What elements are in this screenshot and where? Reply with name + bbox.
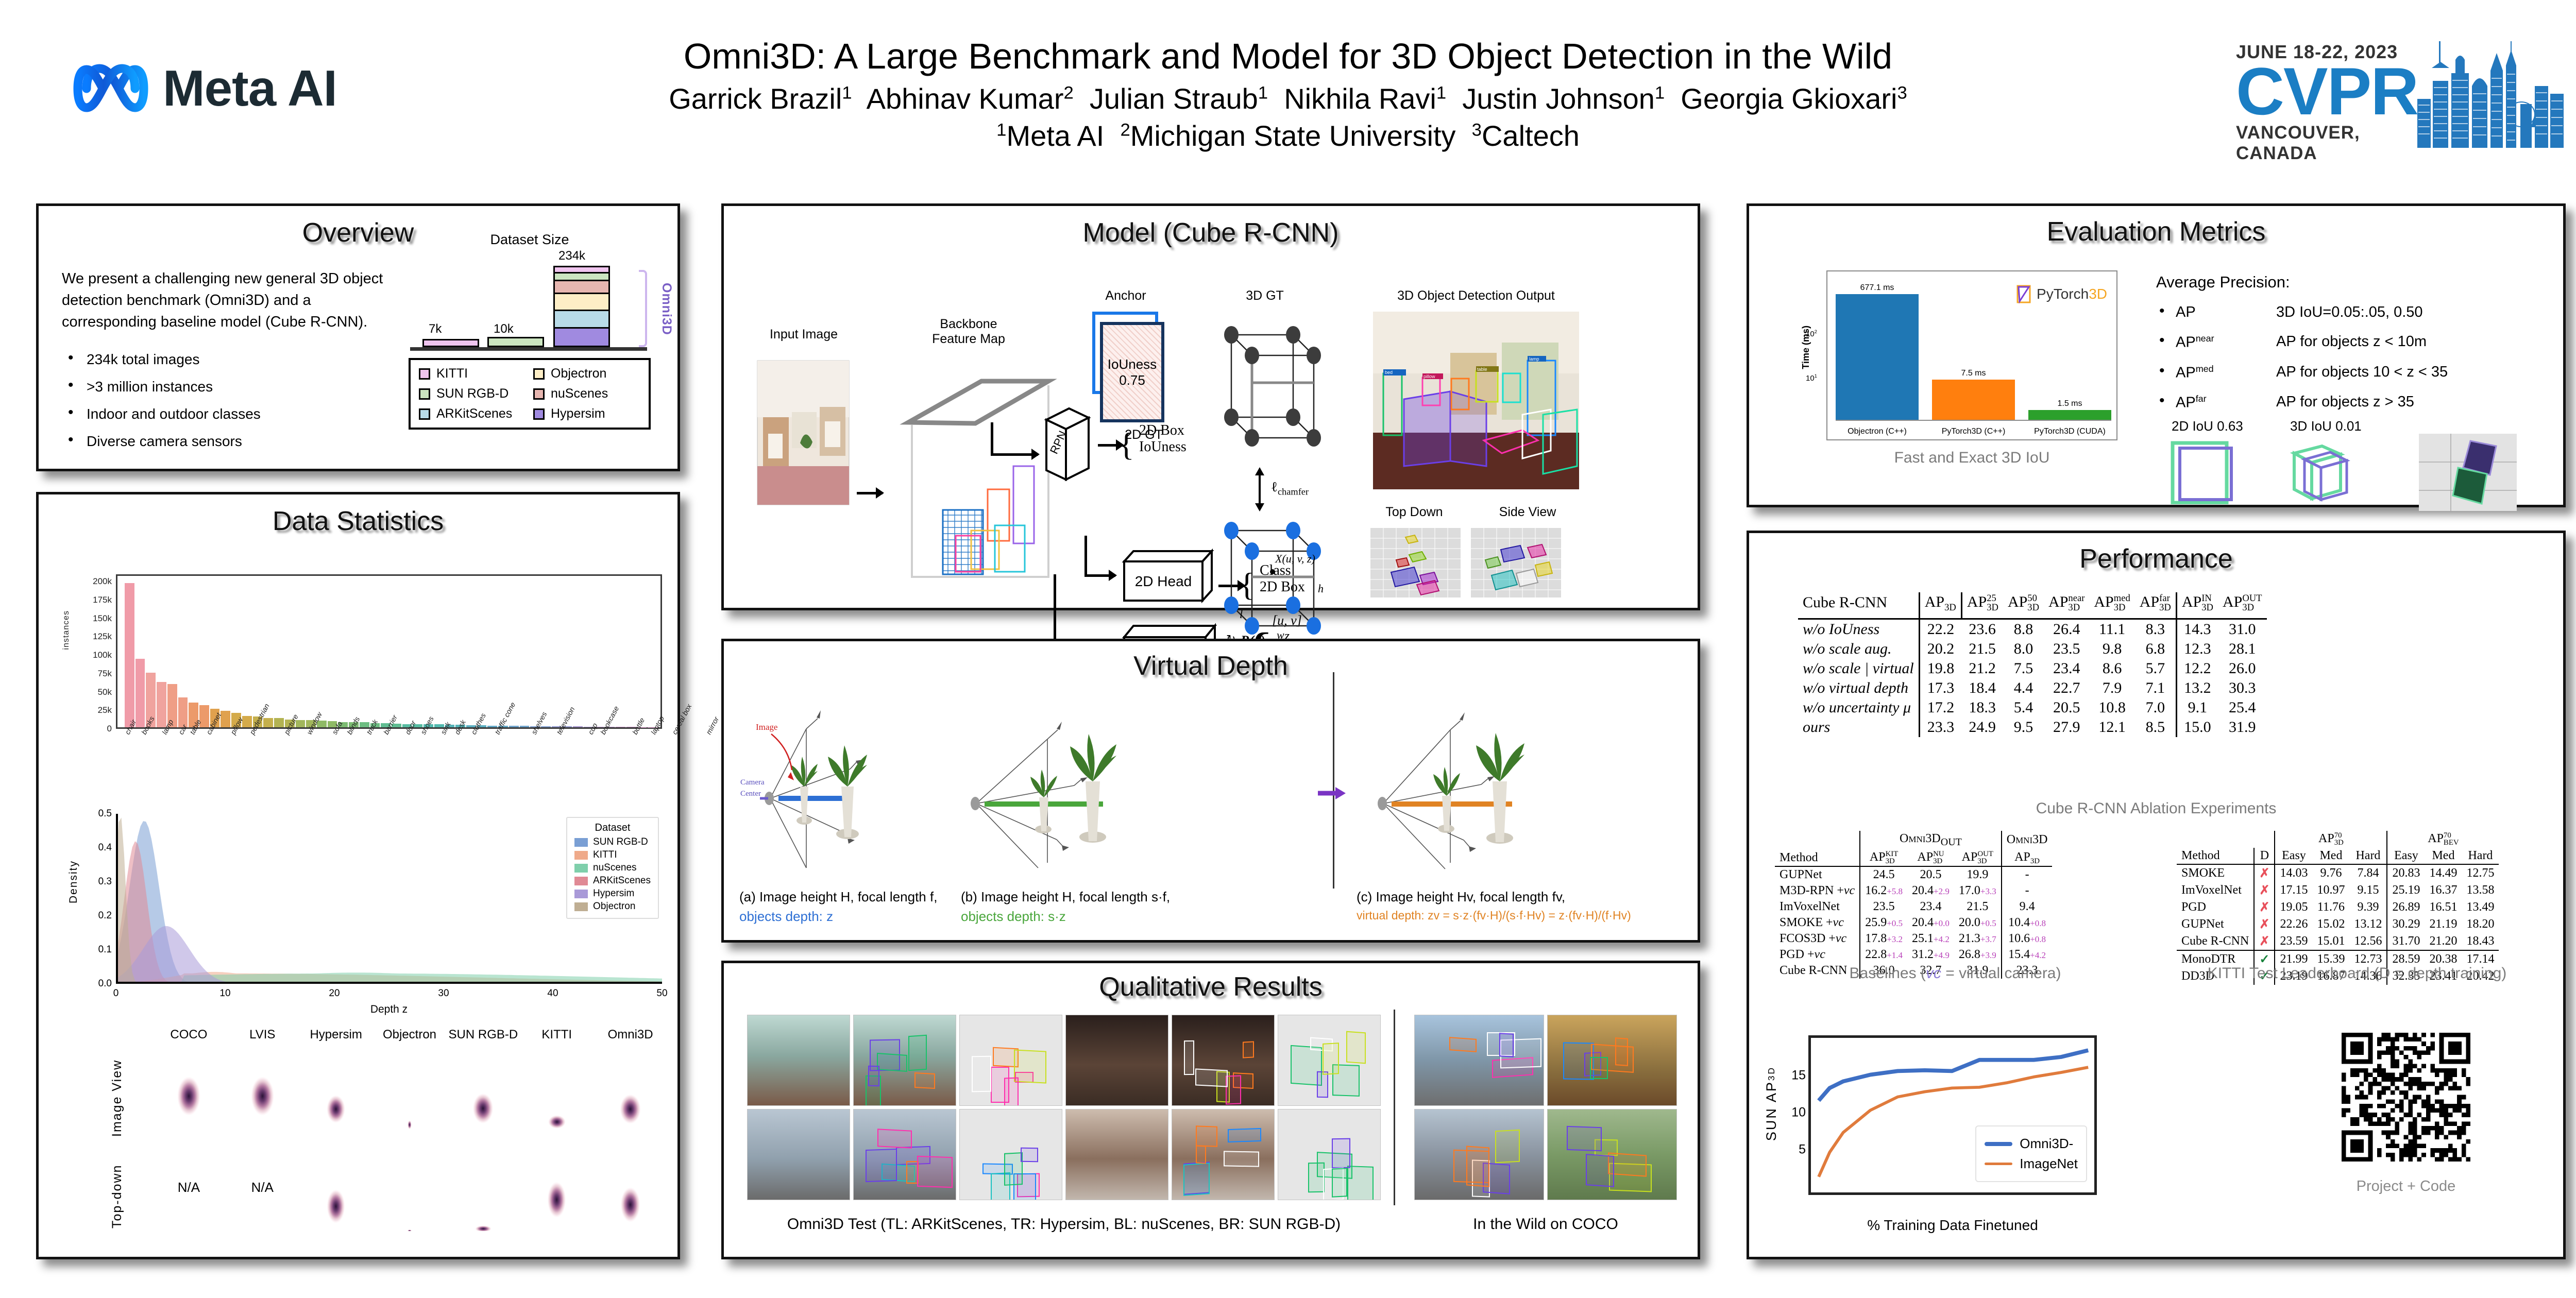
column-header: Easy xyxy=(2387,848,2425,864)
column-header: AP 3D xyxy=(2002,849,2053,867)
average-precision-list: AP3D IoU=0.05:.05, 0.50APnearAP for obje… xyxy=(2156,304,2548,412)
table-cell: 9.1 xyxy=(2176,698,2218,718)
x-tick-label: PyTorch3D (CUDA) xyxy=(2028,427,2111,436)
table-cell: 8.0 xyxy=(2003,639,2044,659)
ap-definition-row: APfarAP for objects z > 35 xyxy=(2156,394,2548,412)
label-3d-gt: 3D GT xyxy=(1218,288,1311,303)
dataset-legend: KITTI Objectron SUN RGB-D nuScenes ARKit… xyxy=(409,358,651,430)
group-header-omni3d: Omni3D xyxy=(2002,831,2053,849)
svg-text:table: table xyxy=(1477,367,1487,372)
bar xyxy=(178,697,188,727)
label-top-down: Top Down xyxy=(1363,505,1466,520)
label-backbone-feature-map: Backbone Feature Map xyxy=(909,317,1028,347)
input-image-thumbnail xyxy=(756,355,851,510)
y-tick: 10 xyxy=(1791,1105,1806,1120)
column-header: LVIS xyxy=(226,1028,299,1042)
spatial-distribution-grid: COCO LVIS Hypersim Objectron SUN RGB-D K… xyxy=(106,1028,667,1234)
performance-title: Performance xyxy=(1749,543,2563,574)
column-header: Hard xyxy=(2462,848,2499,864)
column-header: APfar3D xyxy=(2135,592,2177,619)
table-cell: 10.6+0.8 xyxy=(2002,931,2053,947)
caption-b: (b) Image height H, focal length s·f, ob… xyxy=(961,887,1177,926)
qualitative-image xyxy=(1065,1015,1168,1106)
overview-bullets: 234k total images >3 million instances I… xyxy=(62,352,402,449)
y-tick: 175k xyxy=(93,595,112,605)
table-cell: 8.8 xyxy=(2003,619,2044,639)
column-header: APOUT3D xyxy=(1954,849,2002,867)
table-header-row: MethodDEasyMedHardEasyMedHard xyxy=(2177,848,2499,864)
poster-header: Meta AI Omni3D: A Large Benchmark and Mo… xyxy=(0,0,2576,191)
caption-c: (c) Image height Hv, focal length fv, vi… xyxy=(1357,887,1676,924)
legend-label: ARKitScenes xyxy=(436,406,512,421)
row-label: w/o uncertainty μ xyxy=(1798,698,1919,718)
table-row: GUPNet24.520.519.9- xyxy=(1775,866,2052,883)
timing-bar-wrap: 677.1 ms xyxy=(1836,279,1919,420)
column-header: AP503D xyxy=(2003,592,2044,619)
heatmap-cell xyxy=(446,1143,520,1231)
heatmap-blob xyxy=(404,1109,416,1140)
table-cell: 8.3 xyxy=(2135,619,2177,639)
y-tick: 0.0 xyxy=(98,978,112,989)
y-tick: 5 xyxy=(1799,1142,1806,1157)
bar xyxy=(274,718,284,727)
axis-label-depth-z: Depth z xyxy=(370,1003,408,1016)
table-cell: 9.5 xyxy=(2003,718,2044,737)
table-cell: 28.1 xyxy=(2218,639,2267,659)
x-tick: 20 xyxy=(329,988,340,999)
timing-bar xyxy=(1836,294,1919,420)
depth-flag: ✗ xyxy=(2254,882,2275,899)
dataset-size-title: Dataset Size xyxy=(393,232,666,248)
table-cell: 17.0+3.3 xyxy=(1954,883,2002,899)
list-item: 234k total images xyxy=(62,352,402,367)
heatmap-blob xyxy=(240,1049,285,1139)
legend-item-nuscenes: nuScenes xyxy=(533,386,640,401)
legend-swatch xyxy=(574,877,588,885)
density-legend: Dataset SUN RGB-DKITTInuScenesARKitScene… xyxy=(566,817,659,919)
legend-swatch-imagenet xyxy=(1985,1163,2012,1165)
legend-item: SUN RGB-D xyxy=(574,836,651,848)
list-item: >3 million instances xyxy=(62,380,402,394)
baselines-caption-a: Baselines ( xyxy=(1850,965,1926,982)
table-cell: 10.8 xyxy=(2089,698,2134,718)
qr-caption: Project + Code xyxy=(2326,1178,2486,1195)
table-cell: 12.56 xyxy=(2349,933,2387,950)
caption-b-bottom: objects depth: s·z xyxy=(961,907,1177,927)
legend-item: ARKitScenes xyxy=(574,875,651,886)
qualitative-image xyxy=(747,1015,850,1106)
legend-label: KITTI xyxy=(436,366,468,381)
axis-label-density: Density xyxy=(67,860,80,903)
table-cell: 26.0 xyxy=(2218,659,2267,678)
baselines-caption: Baselines (vc = virtual camera) xyxy=(1765,965,2146,982)
table-cell: 20.4+2.9 xyxy=(1907,883,1954,899)
dataset-size-plot: 7k 10k 234k Omni3D xyxy=(406,253,653,351)
column-header: Easy xyxy=(2275,848,2312,864)
table-cell: 12.75 xyxy=(2462,864,2499,882)
column-header: AP 3D xyxy=(1919,592,1961,619)
x-tick-label: Objectron (C++) xyxy=(1836,427,1919,436)
evaluation-metrics-panel: Evaluation Metrics Time (ms) 101 102 677… xyxy=(1747,203,2566,507)
timing-bar-wrap: 7.5 ms xyxy=(1932,279,2015,420)
heatmap-cell xyxy=(299,1143,373,1231)
table-cell: 7.84 xyxy=(2349,864,2387,882)
table-cell: 16.51 xyxy=(2425,899,2462,916)
connector-vertical-rpn xyxy=(991,422,993,456)
qualitative-grid-coco xyxy=(1414,1015,1677,1200)
segment-kitti xyxy=(555,267,608,274)
evaluation-title: Evaluation Metrics xyxy=(1749,216,2563,247)
row-label-top-down: Top-down xyxy=(110,1143,125,1228)
table-cell: 13.58 xyxy=(2462,882,2499,899)
legend-item-imagenet: ImageNet xyxy=(1985,1156,2078,1172)
ap-description: AP for objects z < 10m xyxy=(2276,333,2427,351)
table-cell: 12.1 xyxy=(2089,718,2134,737)
density-x-axis xyxy=(116,982,662,984)
table-cell: 12.3 xyxy=(2176,639,2218,659)
legend-item-kitti: KITTI xyxy=(419,366,526,381)
legend-swatch-nuscenes xyxy=(533,388,545,400)
side-view-render xyxy=(1471,528,1561,597)
row-label: GUPNet xyxy=(1775,866,1860,883)
caption-a-bottom: objects depth: z xyxy=(739,907,956,927)
legend-swatch xyxy=(574,902,588,911)
table-corner: Method xyxy=(1775,849,1860,867)
legend-item-hypersim: Hypersim xyxy=(533,406,640,421)
table-cell: 22.2 xyxy=(1919,619,1961,639)
table-cell: 8.6 xyxy=(2089,659,2134,678)
table-row: SMOKE✗14.039.767.8420.8314.4912.75 xyxy=(2177,864,2499,882)
legend-swatch-hypersim xyxy=(533,408,545,420)
3d-iou-scene-render xyxy=(2419,434,2517,511)
table-cell: 21.20 xyxy=(2425,933,2462,950)
table-row: w/o scale | virtual19.821.27.523.48.65.7… xyxy=(1798,659,2267,678)
table-cell: 30.3 xyxy=(2218,678,2267,698)
column-header: AP253D xyxy=(1961,592,2003,619)
column-header: Hypersim xyxy=(299,1028,373,1042)
bar-chart-plot xyxy=(116,574,662,729)
na-label: N/A xyxy=(178,1180,200,1195)
qualitative-image xyxy=(959,1015,1062,1106)
kitti-leaderboard-table: AP703DAP70BEVMethodDEasyMedHardEasyMedHa… xyxy=(2177,831,2499,985)
baselines-table-wrap: Omni3DOUTOmni3DMethodAPKIT3DAPNU3DAPOUT3… xyxy=(1775,831,2052,979)
table-cell: 9.4 xyxy=(2002,899,2053,915)
segment-sunrgbd xyxy=(555,274,608,281)
row-label: ImVoxelNet xyxy=(1775,899,1860,915)
svg-text:X(u, v, z): X(u, v, z) xyxy=(1275,552,1315,565)
table-cell: 15.01 xyxy=(2312,933,2349,950)
table-cell: 27.9 xyxy=(2044,718,2089,737)
bar xyxy=(263,718,273,727)
iouness-label: IoUness xyxy=(1108,356,1157,372)
heatmap-blob xyxy=(463,1212,504,1231)
virtual-depth-diagram-c xyxy=(1358,708,1589,878)
segment-arkitscenes xyxy=(555,311,608,328)
y-tick: 50k xyxy=(98,687,112,697)
column-header: APOUT3D xyxy=(2218,592,2267,619)
column-header: APIN3D xyxy=(2176,592,2218,619)
svg-text:h: h xyxy=(1318,582,1324,595)
row-label: ImVoxelNet xyxy=(2177,882,2254,899)
arrow-input-to-backbone xyxy=(857,492,883,494)
group-header-ap3d: AP703D xyxy=(2275,831,2387,848)
label-chamfer-loss: ℓchamfer xyxy=(1271,479,1309,497)
row-label: GUPNet xyxy=(2177,916,2254,933)
predicted-cube-wireframe: X(u, v, z) h l w ↻ R(p) xyxy=(1211,515,1332,646)
table-row: PGD✗19.0511.769.3926.8916.5113.49 xyxy=(2177,899,2499,916)
kitti-caption: KITTI Test Leaderboard (D = depth traini… xyxy=(2161,965,2553,982)
list-item: Diverse camera sensors xyxy=(62,434,402,449)
svg-text:2D Head: 2D Head xyxy=(1135,573,1192,589)
segment-nuscenes xyxy=(555,281,608,294)
caption-b-top: (b) Image height H, focal length s·f, xyxy=(961,887,1177,907)
table-cell: 23.4 xyxy=(1907,899,1954,915)
legend-label: nuScenes xyxy=(593,862,637,874)
overview-body: We present a challenging new general 3D … xyxy=(62,268,402,462)
column-header: APmed3D xyxy=(2089,592,2134,619)
qualitative-image xyxy=(1278,1109,1381,1200)
depth-density-chart: Density 0.00.10.20.30.40.5 01020304050 D… xyxy=(116,814,662,984)
table-cell: 17.3 xyxy=(1919,678,1961,698)
heatmap-cell xyxy=(520,1049,594,1139)
table-cell: 12.2 xyxy=(2176,659,2218,678)
table-cell: 7.0 xyxy=(2135,698,2177,718)
heatmap-blob xyxy=(315,1067,357,1139)
omni3d-brace xyxy=(639,270,647,347)
qualitative-image xyxy=(1172,1109,1275,1200)
bar-kitti xyxy=(422,339,479,347)
column-header: KITTI xyxy=(520,1028,594,1042)
chart-baseline xyxy=(410,347,647,351)
heatgrid-row-top-down: N/AN/A xyxy=(152,1143,667,1231)
timing-x-labels: Objectron (C++)PyTorch3D (C++)PyTorch3D … xyxy=(1836,427,2111,436)
legend-swatch xyxy=(574,838,588,847)
heatmap-blob xyxy=(166,1049,212,1139)
list-item: Indoor and outdoor classes xyxy=(62,407,402,421)
table-cell: 17.2 xyxy=(1919,698,1961,718)
table-row: ImVoxelNet23.523.421.59.4 xyxy=(1775,899,2052,915)
legend-swatch-objectron xyxy=(533,368,545,380)
depth-flag: ✗ xyxy=(2254,864,2275,882)
y-tick: 0.5 xyxy=(98,808,112,819)
row-label: PGD xyxy=(2177,899,2254,916)
omni3d-brace-label: Omni3D xyxy=(659,283,674,335)
table-cell: 13.12 xyxy=(2349,916,2387,933)
table-row: ours23.324.99.527.912.18.515.031.9 xyxy=(1798,718,2267,737)
meta-infinity-icon xyxy=(72,60,149,117)
legend-label: Objectron xyxy=(551,366,606,381)
axis-label-instances: instances xyxy=(62,610,71,650)
table-cell: 10.4+0.8 xyxy=(2002,915,2053,931)
row-label: w/o virtual depth xyxy=(1798,678,1919,698)
table-row: M3D-RPN +vc16.2+5.820.4+2.917.0+3.3- xyxy=(1775,883,2052,899)
qualitative-image xyxy=(1065,1109,1168,1200)
data-statistics-panel: Data Statistics instances 025k50k75k100k… xyxy=(36,492,680,1259)
label-detection-output: 3D Object Detection Output xyxy=(1358,288,1595,303)
connector-vertical-2dhead xyxy=(1084,536,1087,577)
overview-lead-text: We present a challenging new general 3D … xyxy=(62,268,402,333)
overview-panel: Overview We present a challenging new ge… xyxy=(36,203,680,471)
qualitative-image xyxy=(1414,1109,1544,1200)
table-row: w/o IoUness22.223.68.826.411.18.314.331.… xyxy=(1798,619,2267,639)
timing-bar xyxy=(1932,380,2015,420)
table-cell: 30.29 xyxy=(2387,916,2425,933)
caption-a-top: (a) Image height H, focal length f, xyxy=(739,887,956,907)
x-tick-label: cereal box xyxy=(670,703,693,736)
qualitative-image xyxy=(1172,1015,1275,1106)
table-row: GUPNet✗22.2615.0213.1230.2921.1918.20 xyxy=(2177,916,2499,933)
column-header: APKIT3D xyxy=(1860,849,1907,867)
table-corner: Method xyxy=(2177,848,2254,864)
y-tick: 200k xyxy=(93,576,112,587)
kitti-table-wrap: AP703DAP70BEVMethodDEasyMedHardEasyMedHa… xyxy=(2177,831,2499,985)
table-row: FCOS3D +vc17.8+3.225.1+4.221.3+3.710.6+0… xyxy=(1775,931,2052,947)
table-cell: 14.3 xyxy=(2176,619,2218,639)
table-cell: 9.39 xyxy=(2349,899,2387,916)
table-cell: 23.4 xyxy=(2044,659,2089,678)
table-cell: 21.19 xyxy=(2425,916,2462,933)
legend-swatch-sunrgbd xyxy=(419,388,430,400)
ablation-table: Cube R-CNNAP 3DAP253DAP503DAPnear3DAPmed… xyxy=(1798,592,2267,737)
backbone-feature-map-icon xyxy=(894,361,1064,587)
table-cell: 15.02 xyxy=(2312,916,2349,933)
arrow-backbone-to-rpn xyxy=(992,453,1038,456)
table-cell: 19.9 xyxy=(1954,866,2002,883)
column-header-d: D xyxy=(2254,848,2275,864)
gt-box-iouness: IoUness 0.75 xyxy=(1100,322,1164,422)
table-cell: 16.37 xyxy=(2425,882,2462,899)
table-cell: 25.9+0.5 xyxy=(1860,915,1907,931)
instances-bar-chart: instances 025k50k75k100k125k150k175k200k… xyxy=(116,574,662,729)
y-tick: 0.4 xyxy=(98,842,112,853)
heatmap-cell: N/A xyxy=(152,1143,226,1231)
table-cell: 25.19 xyxy=(2387,882,2425,899)
heatmap-cell xyxy=(594,1049,667,1139)
y-tick: 150k xyxy=(93,613,112,624)
bar-value-label: 677.1 ms xyxy=(1860,283,1894,293)
table-group-header: Omni3DOUTOmni3D xyxy=(1775,831,2052,849)
table-cell: 7.1 xyxy=(2135,678,2177,698)
qualitative-image xyxy=(1547,1109,1677,1200)
finetune-legend: Omni3D- ImageNet xyxy=(1975,1125,2087,1182)
x-axis-category-labels: chairbookslampcartablecabinetpillowpedes… xyxy=(123,732,659,740)
column-header: Hard xyxy=(2349,848,2387,864)
qualitative-image xyxy=(853,1109,956,1200)
ap-definition-row: APmedAP for objects 10 < z < 35 xyxy=(2156,364,2548,382)
model-panel: Model (Cube R-CNN) Input Image Backbone … xyxy=(721,203,1700,610)
detection-output-image: bed pillow lamp table xyxy=(1373,312,1579,489)
table-group-header: AP703DAP70BEV xyxy=(2177,831,2499,848)
table-cell: 21.5 xyxy=(1961,639,2003,659)
legend-item: KITTI xyxy=(574,849,651,861)
ap-key: APmed xyxy=(2176,364,2266,382)
table-cell: 11.76 xyxy=(2312,899,2349,916)
legend-swatch xyxy=(574,851,588,860)
model-title: Model (Cube R-CNN) xyxy=(724,217,1698,248)
y-tick: 25k xyxy=(98,705,112,715)
heatmap-blob xyxy=(462,1066,504,1140)
na-label: N/A xyxy=(251,1180,274,1195)
qualitative-image xyxy=(747,1109,850,1200)
row-label-image-view: Image View xyxy=(110,1049,125,1137)
table-cell: 31.2+4.9 xyxy=(1907,947,1954,963)
iouness-value: 0.75 xyxy=(1119,372,1145,388)
table-cell: 18.20 xyxy=(2462,916,2499,933)
x-tick: 0 xyxy=(113,988,119,999)
table-cell: 4.4 xyxy=(2003,678,2044,698)
y-tick: 125k xyxy=(93,631,112,642)
ap-definition-row: AP3D IoU=0.05:.05, 0.50 xyxy=(2156,304,2548,321)
meta-ai-logo: Meta AI xyxy=(72,59,337,117)
bar-label-sunrgbd: 10k xyxy=(494,322,514,336)
iou-caption: Fast and Exact 3D IoU xyxy=(1826,449,2117,467)
transition-arrow-icon xyxy=(1314,783,1350,804)
table-cell: 14.49 xyxy=(2425,864,2462,882)
row-label: ours xyxy=(1798,718,1919,737)
table-cell: 8.5 xyxy=(2135,718,2177,737)
legend-swatch xyxy=(574,890,588,898)
table-cell: 13.2 xyxy=(2176,678,2218,698)
panel-divider xyxy=(1333,672,1334,889)
table-cell: 22.7 xyxy=(2044,678,2089,698)
ap-description: AP for objects z > 35 xyxy=(2276,394,2414,412)
gt-cube-wireframe xyxy=(1211,309,1332,464)
bar xyxy=(541,726,551,727)
table-cell: 18.4 xyxy=(1961,678,2003,698)
table-cell: 22.26 xyxy=(2275,916,2312,933)
table-cell: 26.8+3.9 xyxy=(1954,947,2002,963)
table-cell: 15.0 xyxy=(2176,718,2218,737)
average-precision-block: Average Precision: AP3D IoU=0.05:.05, 0.… xyxy=(2156,273,2548,412)
iou-examples: 2D IoU 0.63 3D IoU 0.01 xyxy=(2161,418,2543,506)
caption-c-bottom: virtual depth: zv = s·z·(fv·H)/(s·f·Hv) … xyxy=(1357,907,1676,924)
row-label: Cube R-CNN xyxy=(2177,933,2254,950)
bar-value-label: 7.5 ms xyxy=(1961,369,1986,378)
heatgrid-column-headers: COCO LVIS Hypersim Objectron SUN RGB-D K… xyxy=(152,1028,667,1042)
rpn-block-icon: RPN xyxy=(1039,404,1096,482)
svg-text:bed: bed xyxy=(1385,370,1393,375)
qualitative-image xyxy=(1547,1015,1677,1106)
heatgrid-row-image-view xyxy=(152,1049,667,1139)
project-qr-code[interactable] xyxy=(2342,1033,2470,1162)
qualitative-grid-omni3d xyxy=(747,1015,1381,1200)
label-side-view: Side View xyxy=(1476,505,1579,520)
table-cell: 5.4 xyxy=(2003,698,2044,718)
svg-text:lamp: lamp xyxy=(1529,356,1539,362)
y-tick: 0.3 xyxy=(98,876,112,887)
svg-text:pillow: pillow xyxy=(1423,374,1435,379)
legend-swatch-arkitscenes xyxy=(419,408,430,420)
heatmap-blob xyxy=(317,1149,355,1231)
table-cell: 7.5 xyxy=(2003,659,2044,678)
row-label: w/o scale | virtual xyxy=(1798,659,1919,678)
arrow-to-2d-head xyxy=(1084,574,1115,577)
qualitative-image xyxy=(1278,1015,1381,1106)
legend-item-arkitscenes: ARKitScenes xyxy=(419,406,526,421)
label-input-image: Input Image xyxy=(752,327,855,342)
table-cell: 20.5 xyxy=(2044,698,2089,718)
bar xyxy=(520,726,530,727)
legend-label: ImageNet xyxy=(2020,1156,2078,1172)
table-cell: 7.9 xyxy=(2089,678,2134,698)
table-cell: 23.3 xyxy=(1919,718,1961,737)
ap-definition-row: APnearAP for objects z < 10m xyxy=(2156,333,2548,351)
y-tick: 100k xyxy=(93,650,112,660)
qualitative-image xyxy=(853,1015,956,1106)
2d-head-block-icon: 2D Head xyxy=(1118,546,1216,608)
row-label: PGD +vc xyxy=(1775,947,1860,963)
finetune-line-chart: SUN AP3D 51015 Omni3D- ImageNet xyxy=(1808,1035,2097,1195)
